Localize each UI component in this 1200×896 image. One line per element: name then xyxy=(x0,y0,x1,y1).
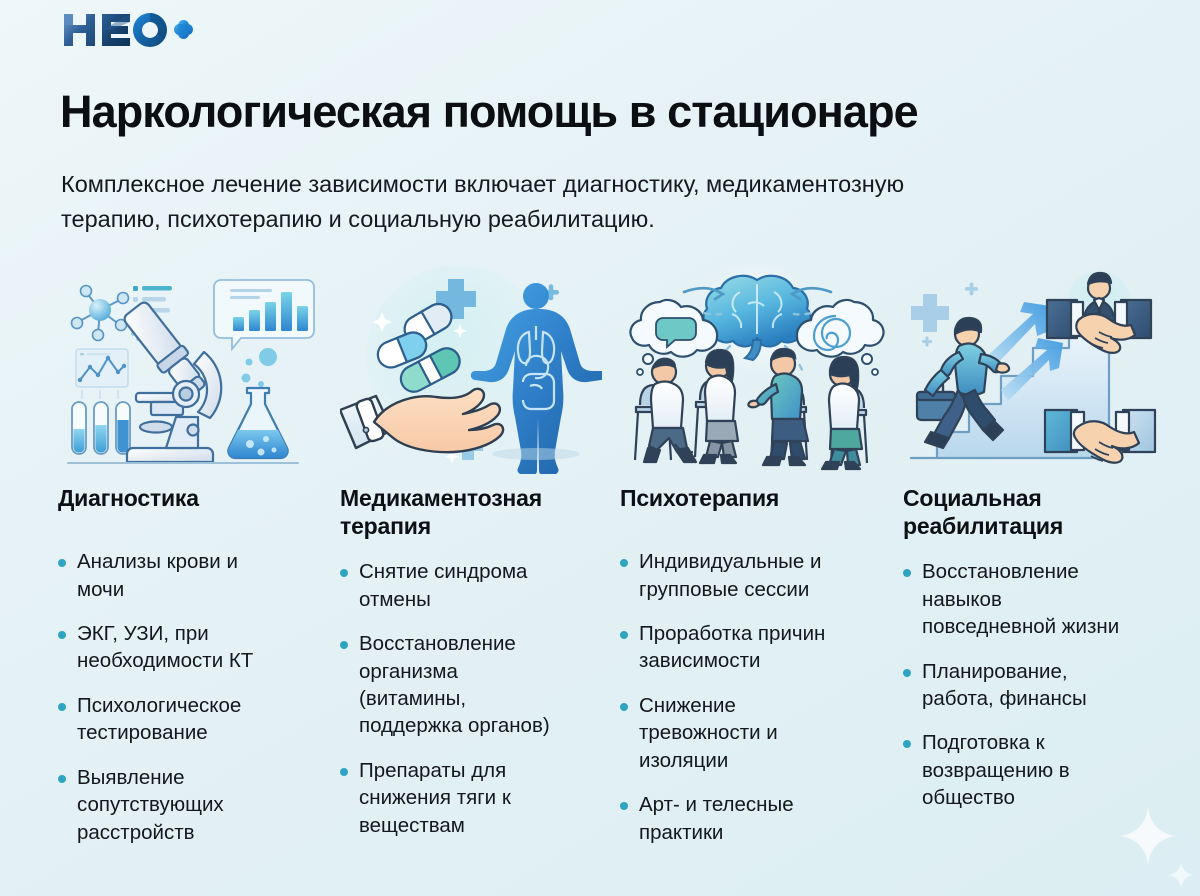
column-psychotherapy: Психотерапия Индивидуальные и групповые … xyxy=(570,262,855,846)
bullet-dot-icon xyxy=(620,559,628,567)
list-item: Восстановление организма (витамины, подд… xyxy=(340,630,560,740)
group-therapy-brain-icon xyxy=(620,262,845,474)
column-social-rehab: Социальная реабилитация Восстановление н… xyxy=(855,262,1140,846)
column-diagnostics: Диагностика Анализы крови и мочи ЭКГ, УЗ… xyxy=(0,262,285,846)
list-item: Снижение тревожности и изоляции xyxy=(620,692,845,774)
neo-plus-logo-icon xyxy=(62,11,194,49)
list-item-label: Препараты для снижения тяги к веществам xyxy=(359,759,511,837)
column-title-psychotherapy: Психотерапия xyxy=(620,484,845,512)
bullet-dot-icon xyxy=(58,631,66,639)
list-item: Психологическое тестирование xyxy=(58,692,273,747)
stairs-handshake-icon xyxy=(903,262,1128,474)
list-item-label: Восстановление организма (витамины, подд… xyxy=(359,632,550,737)
list-item: Индивидуальные и групповые сессии xyxy=(620,548,845,603)
bullet-dot-icon xyxy=(620,703,628,711)
bullet-dot-icon xyxy=(903,569,911,577)
list-item-label: Планирование, работа, финансы xyxy=(922,660,1087,710)
list-item-label: Арт- и телесные практики xyxy=(639,793,794,843)
bullet-list-social-rehab: Восстановление навыков повседневной жизн… xyxy=(903,558,1128,812)
list-item-label: Выявление сопутствующих расстройств xyxy=(77,766,224,844)
column-title-social-rehab: Социальная реабилитация xyxy=(903,484,1128,540)
bullet-dot-icon xyxy=(58,775,66,783)
list-item-label: Психологическое тестирование xyxy=(77,694,241,744)
list-item-label: Восстановление навыков повседневной жизн… xyxy=(922,560,1119,638)
list-item: Восстановление навыков повседневной жизн… xyxy=(903,558,1128,640)
list-item: ЭКГ, УЗИ, при необходимости КТ xyxy=(58,620,273,675)
hand-pills-body-icon xyxy=(340,262,560,474)
bullet-dot-icon xyxy=(340,641,348,649)
microscope-lab-icon xyxy=(58,262,273,474)
list-item-label: Анализы крови и мочи xyxy=(77,550,238,600)
list-item-label: Снятие синдрома отмены xyxy=(359,560,527,610)
bullet-dot-icon xyxy=(58,703,66,711)
bullet-list-medication: Снятие синдрома отмены Восстановление ор… xyxy=(340,558,560,839)
brand-logo xyxy=(62,10,194,50)
list-item: Подготовка к возвращению в общество xyxy=(903,729,1128,811)
list-item-label: Снижение тревожности и изоляции xyxy=(639,694,778,772)
bullet-list-diagnostics: Анализы крови и мочи ЭКГ, УЗИ, при необх… xyxy=(58,548,273,846)
list-item-label: Индивидуальные и групповые сессии xyxy=(639,550,821,600)
list-item: Анализы крови и мочи xyxy=(58,548,273,603)
page-subtitle: Комплексное лечение зависимости включает… xyxy=(61,167,961,238)
bullet-dot-icon xyxy=(903,740,911,748)
list-item: Проработка причин зависимости xyxy=(620,620,845,675)
bullet-dot-icon xyxy=(620,631,628,639)
list-item-label: Подготовка к возвращению в общество xyxy=(922,731,1070,809)
bullet-list-psychotherapy: Индивидуальные и групповые сессии Прораб… xyxy=(620,548,845,846)
page-title: Наркологическая помощь в стационаре xyxy=(60,88,1160,137)
column-title-diagnostics: Диагностика xyxy=(58,484,273,512)
list-item-label: Проработка причин зависимости xyxy=(639,622,825,672)
sparkle-decoration-small-icon xyxy=(1168,862,1194,888)
feature-columns: Диагностика Анализы крови и мочи ЭКГ, УЗ… xyxy=(0,262,1200,846)
bullet-dot-icon xyxy=(340,569,348,577)
bullet-dot-icon xyxy=(903,669,911,677)
bullet-dot-icon xyxy=(620,802,628,810)
column-medication: Медикаментозная терапия Снятие синдрома … xyxy=(285,262,570,846)
list-item: Арт- и телесные практики xyxy=(620,791,845,846)
list-item: Выявление сопутствующих расстройств xyxy=(58,764,273,846)
bullet-dot-icon xyxy=(58,559,66,567)
list-item-label: ЭКГ, УЗИ, при необходимости КТ xyxy=(77,622,253,672)
list-item: Препараты для снижения тяги к веществам xyxy=(340,757,560,839)
list-item: Снятие синдрома отмены xyxy=(340,558,560,613)
list-item: Планирование, работа, финансы xyxy=(903,658,1128,713)
column-title-medication: Медикаментозная терапия xyxy=(340,484,560,540)
bullet-dot-icon xyxy=(340,768,348,776)
